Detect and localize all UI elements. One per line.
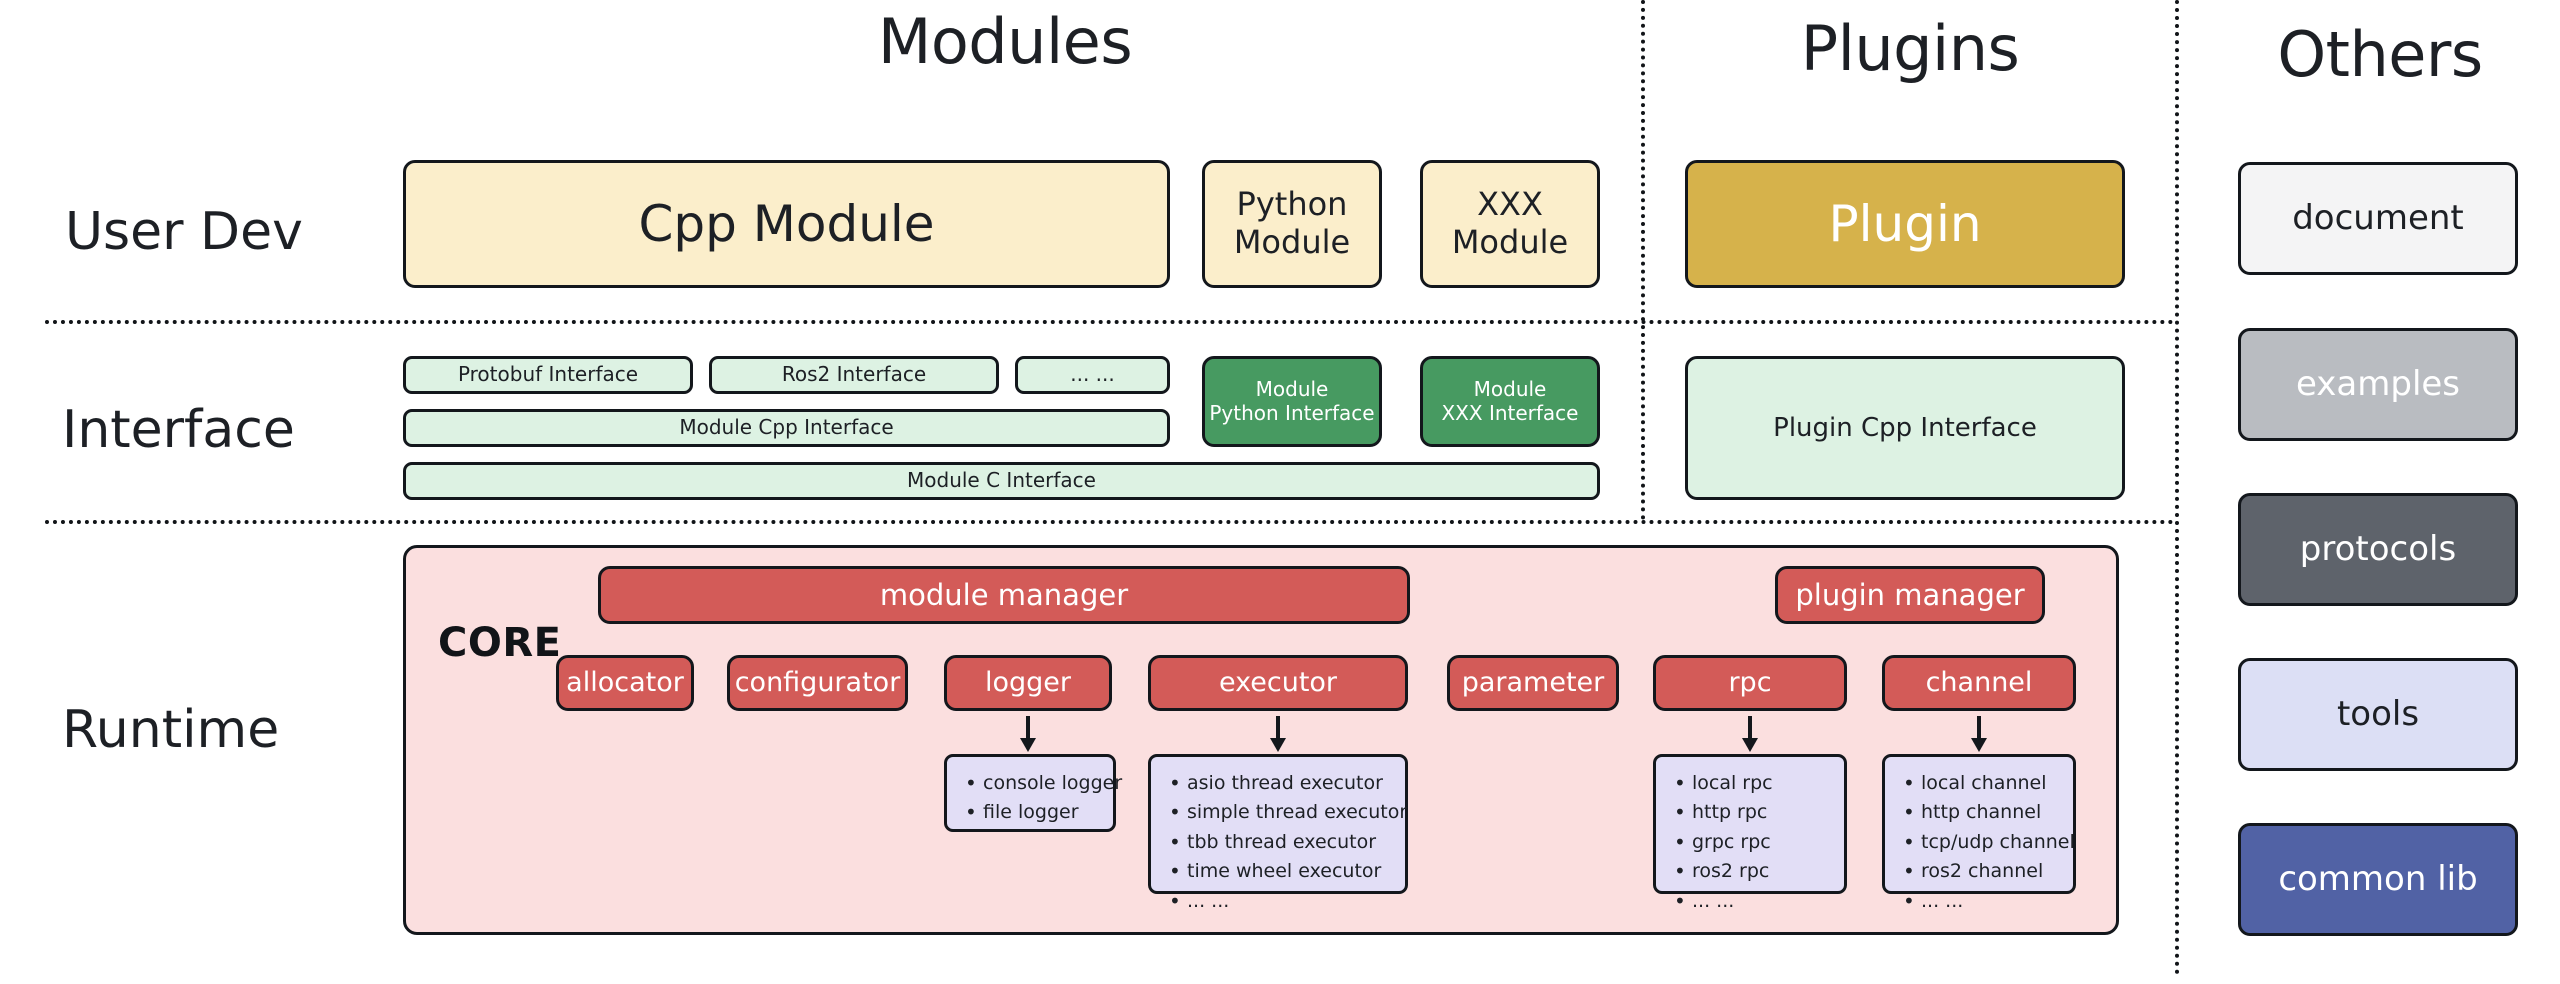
list-item: http channel [1901,798,2061,827]
row-label-interface: Interface [62,400,295,460]
module-xxx-interface-box[interactable]: Module XXX Interface [1420,356,1600,447]
xxx-module-label-line2: Module [1452,224,1568,262]
module-python-interface-line1: Module [1256,378,1329,402]
list-item: tbb thread executor [1167,828,1393,857]
list-item: grpc rpc [1672,828,1832,857]
row-label-user-dev: User Dev [65,202,303,262]
list-item: local rpc [1672,769,1832,798]
channel-detail-list: local channelhttp channeltcp/udp channel… [1882,754,2076,894]
executor-box[interactable]: executor [1148,655,1408,711]
list-item: time wheel executor [1167,857,1393,886]
module-manager-box[interactable]: module manager [598,566,1410,624]
row-label-runtime: Runtime [62,700,279,760]
list-item: ros2 channel [1901,857,2061,886]
xxx-module-box[interactable]: XXX Module [1420,160,1600,288]
channel-arrow-down-icon [1967,714,1991,754]
plugin-manager-box[interactable]: plugin manager [1775,566,2045,624]
python-module-label-line2: Module [1234,224,1350,262]
rpc-arrow-down-icon [1738,714,1762,754]
others-item-document[interactable]: document [2238,162,2518,275]
plugin-cpp-interface-box[interactable]: Plugin Cpp Interface [1685,356,2125,500]
list-item: asio thread executor [1167,769,1393,798]
module-c-interface-box[interactable]: Module C Interface [403,462,1600,500]
module-xxx-interface-line2: XXX Interface [1441,402,1578,426]
parameter-box[interactable]: parameter [1447,655,1619,711]
list-item: tcp/udp channel [1901,828,2061,857]
rpc-box[interactable]: rpc [1653,655,1847,711]
executor-arrow-down-icon [1266,714,1290,754]
divider-interface-runtime [45,520,2175,524]
list-item: ... ... [1672,887,1832,916]
logger-arrow-down-icon [1016,714,1040,754]
configurator-box[interactable]: configurator [727,655,908,711]
divider-plugins-others [2175,0,2179,975]
module-python-interface-box[interactable]: Module Python Interface [1202,356,1382,447]
list-item: ros2 rpc [1672,857,1832,886]
list-item: ... ... [1167,887,1393,916]
core-label: CORE [438,620,561,666]
python-module-label-line1: Python [1237,186,1348,224]
ellipsis-interface-box[interactable]: ... ... [1015,356,1170,394]
list-item: simple thread executor [1167,798,1393,827]
column-header-modules: Modules [690,5,1320,78]
python-module-box[interactable]: Python Module [1202,160,1382,288]
module-cpp-interface-box[interactable]: Module Cpp Interface [403,409,1170,447]
list-item: ... ... [1901,887,2061,916]
others-item-common-lib[interactable]: common lib [2238,823,2518,936]
allocator-box[interactable]: allocator [556,655,694,711]
divider-userdev-interface [45,320,2175,324]
cpp-module-box[interactable]: Cpp Module [403,160,1170,288]
executor-detail-list: asio thread executorsimple thread execut… [1148,754,1408,894]
module-python-interface-line2: Python Interface [1209,402,1374,426]
column-header-others: Others [2215,18,2545,91]
channel-box[interactable]: channel [1882,655,2076,711]
list-item: file logger [963,798,1101,827]
rpc-detail-list: local rpchttp rpcgrpc rpcros2 rpc... ... [1653,754,1847,894]
column-header-plugins: Plugins [1680,12,2140,85]
architecture-diagram: Modules Plugins Others User Dev Interfac… [0,0,2560,984]
protobuf-interface-box[interactable]: Protobuf Interface [403,356,693,394]
logger-detail-list: console loggerfile logger [944,754,1116,832]
module-xxx-interface-line1: Module [1474,378,1547,402]
ros2-interface-box[interactable]: Ros2 Interface [709,356,999,394]
logger-box[interactable]: logger [944,655,1112,711]
divider-modules-plugins [1641,0,1645,520]
list-item: http rpc [1672,798,1832,827]
others-item-tools[interactable]: tools [2238,658,2518,771]
list-item: local channel [1901,769,2061,798]
plugin-box[interactable]: Plugin [1685,160,2125,288]
list-item: console logger [963,769,1101,798]
others-item-examples[interactable]: examples [2238,328,2518,441]
xxx-module-label-line1: XXX [1477,186,1543,224]
others-item-protocols[interactable]: protocols [2238,493,2518,606]
